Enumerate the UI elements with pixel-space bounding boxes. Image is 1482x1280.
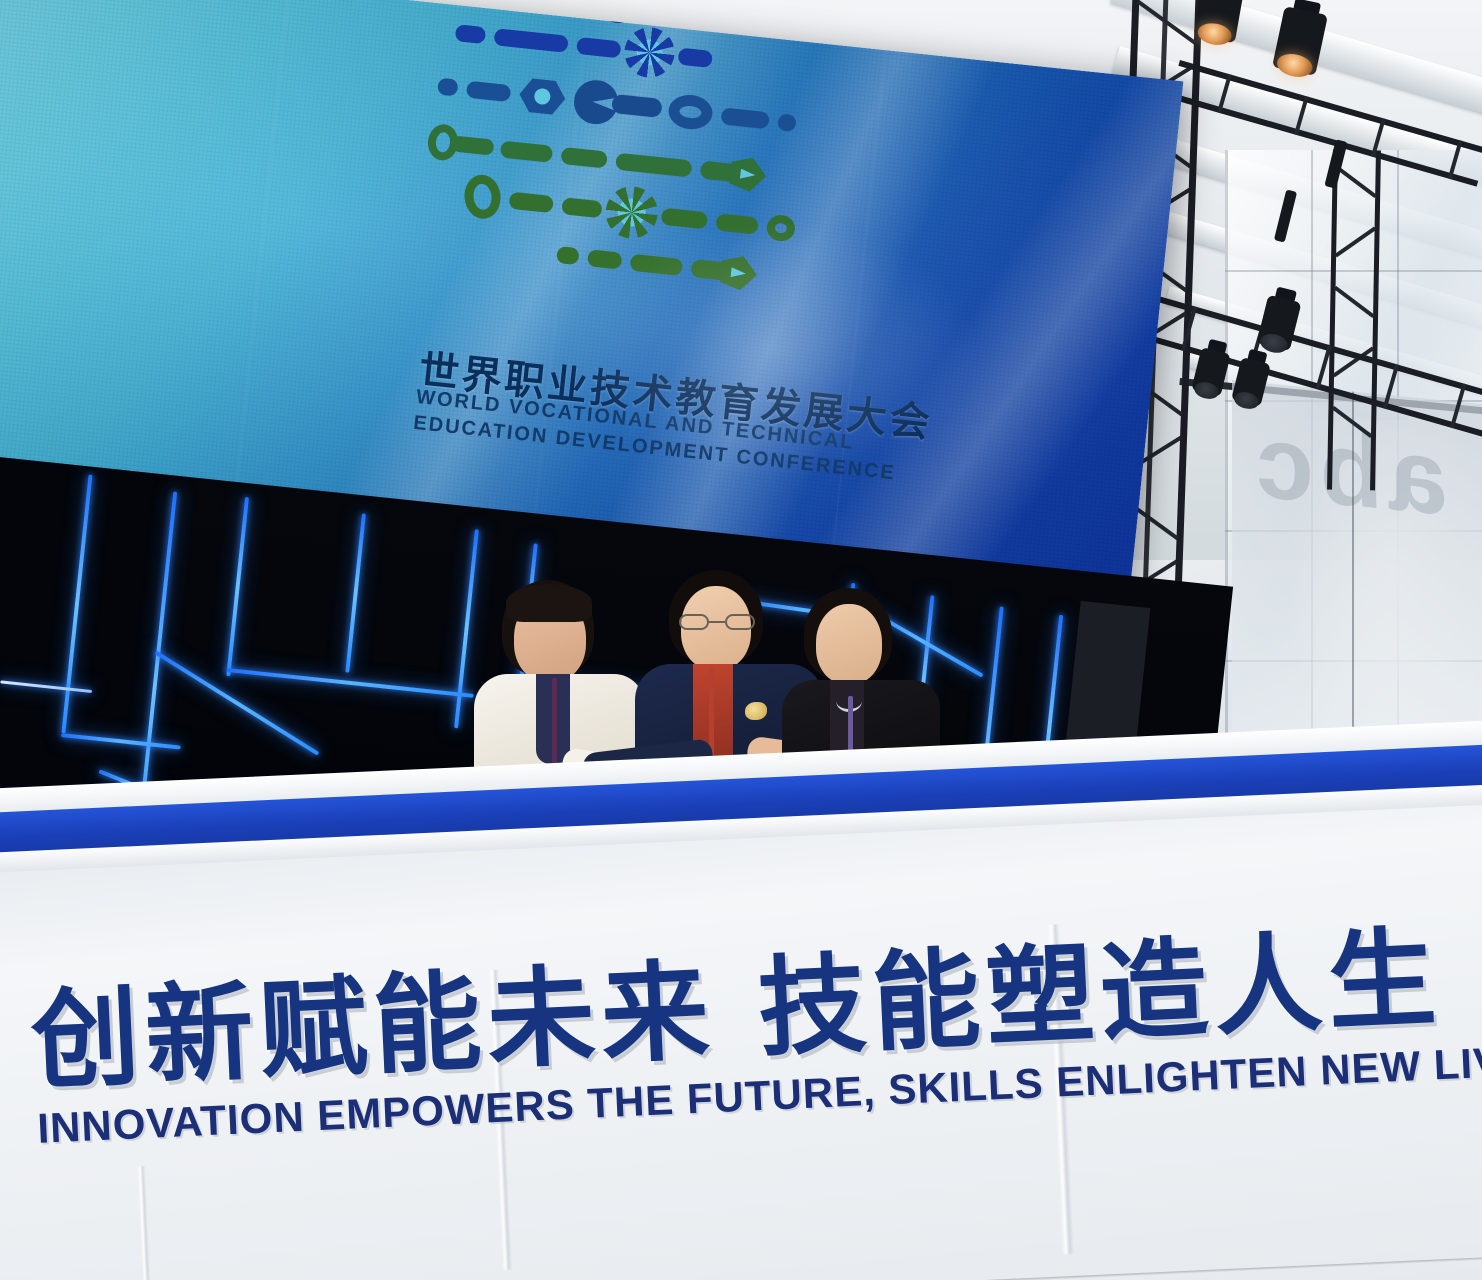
glasses-icon [679,614,755,630]
conference-photo: abc [0,0,1482,1280]
face [816,604,882,684]
conference-tools-logo [408,0,893,379]
brooch-icon [745,702,767,720]
lanyard [552,678,557,774]
signage-wall: 创新赋能未来 技能塑造人生 INNOVATION EMPOWERS THE FU… [0,718,1482,1280]
wall-seam [0,1254,1482,1280]
truss-tower-right [1327,150,1381,491]
hair-front [506,584,592,622]
